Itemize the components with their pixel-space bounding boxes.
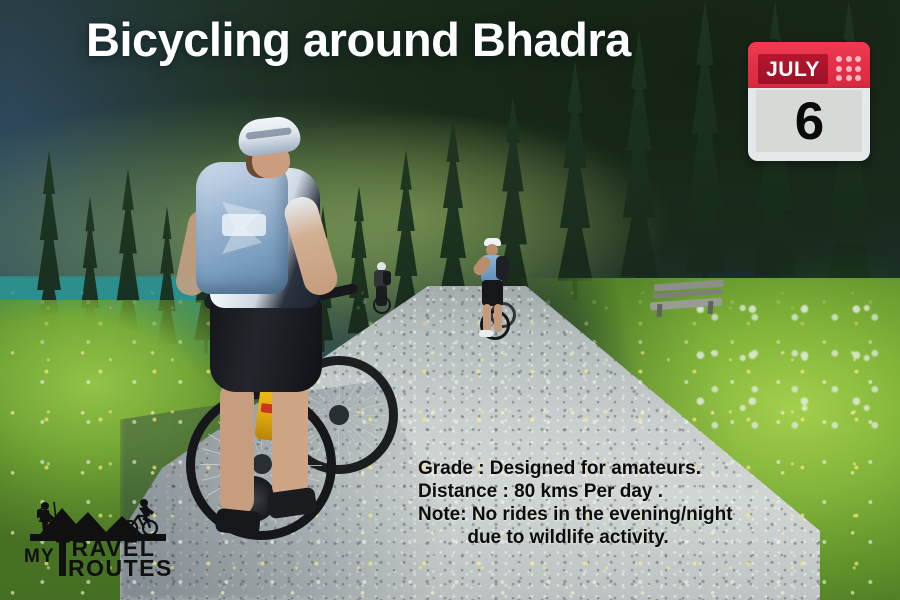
calendar-dot — [836, 56, 842, 62]
calendar-dot — [836, 75, 842, 81]
detail-line-grade: Grade : Designed for amateurs. — [418, 457, 718, 480]
calendar-body: 6 — [748, 88, 870, 161]
calendar-dot — [846, 56, 852, 62]
cyclist-shoe — [479, 330, 493, 337]
cyclist-left-leg — [220, 380, 254, 516]
calendar-day-number: 6 — [795, 95, 823, 148]
wooden-bench — [650, 282, 724, 316]
cyclist-backpack — [383, 271, 391, 285]
calendar-dot — [836, 66, 842, 72]
backpack-strap — [222, 214, 266, 236]
cyclist-right-leg — [272, 376, 308, 502]
second-cyclist — [474, 238, 512, 346]
detail-line-distance: Distance : 80 kms Per day . — [418, 480, 718, 503]
cyclist-rider — [139, 499, 154, 523]
calendar-month-label: JULY — [766, 59, 820, 80]
cyclist-shoe — [266, 487, 317, 519]
bench-leg — [708, 301, 714, 314]
calendar-page: 6 — [756, 90, 862, 152]
bench-leg — [657, 304, 663, 317]
cyclist-helmet — [236, 114, 302, 157]
calendar-badge: JULY 6 — [748, 38, 870, 163]
cyclist-shorts — [482, 280, 503, 306]
foreground-cyclist — [176, 118, 366, 588]
calendar-header: JULY — [748, 42, 870, 90]
calendar-dot — [855, 75, 861, 81]
cyclist-shoe — [215, 508, 261, 536]
calendar-dot — [855, 56, 861, 62]
cyclist-shorts — [210, 294, 322, 392]
detail-line-note-cont: due to wildlife activity. — [418, 526, 718, 549]
page-title: Bicycling around Bhadra — [86, 12, 631, 67]
logo-word-my: MY — [24, 546, 55, 567]
poster-canvas: Bicycling around Bhadra JULY — [0, 0, 900, 600]
calendar-dot — [855, 66, 861, 72]
cyclist-backpack — [496, 256, 509, 280]
cyclist-leg — [494, 304, 502, 332]
calendar-dot — [846, 66, 852, 72]
calendar-dot-grid-icon — [836, 56, 862, 82]
detail-line-note: Note: No rides in the evening/night — [418, 503, 718, 526]
calendar-month-block: JULY — [758, 54, 828, 84]
my-travel-routes-logo[interactable]: MY TRAVEL ROUTES — [18, 486, 176, 578]
white-flower-shrub — [690, 300, 900, 440]
ride-details: Grade : Designed for amateurs. Distance … — [418, 457, 718, 549]
logo-t-stem — [59, 536, 66, 576]
logo-word-routes: ROUTES — [68, 555, 173, 578]
calendar-dot — [846, 75, 852, 81]
